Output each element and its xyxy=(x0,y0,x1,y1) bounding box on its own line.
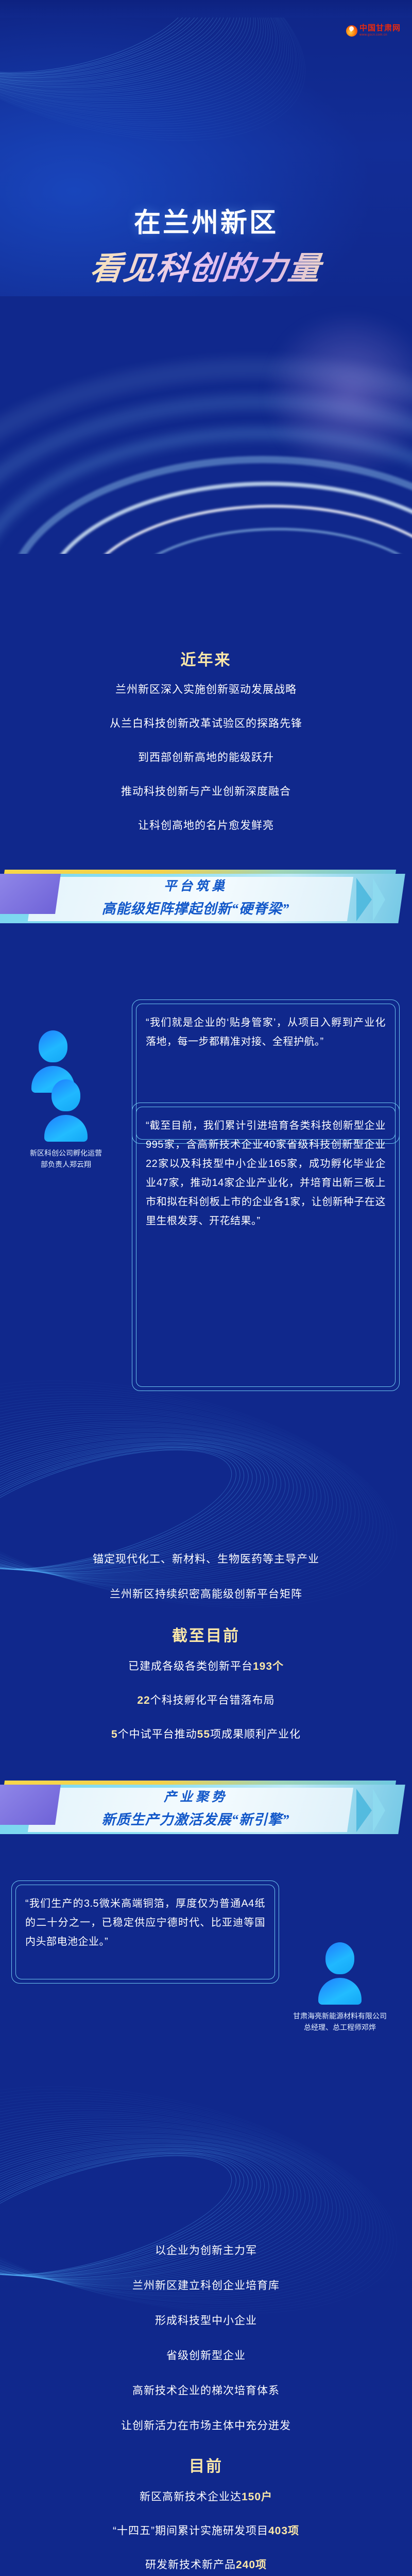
intro-line-2: 到西部创新高地的能级跃升 xyxy=(0,749,412,765)
avatar-head-icon xyxy=(39,1030,67,1062)
stat-suffix: 项 xyxy=(288,2525,299,2537)
stat-suffix: 个科技孵化平台错落布局 xyxy=(150,1694,275,1706)
avatar-caption-2: 新区科创公司孵化运营 部负责人郑云翔 xyxy=(20,1148,112,1170)
avatar-2: 新区科创公司孵化运营 部负责人郑云翔 xyxy=(20,1079,112,1170)
stat-line-2-1: “十四五”期间累计实施研发项目403项 xyxy=(0,2522,412,2538)
stats-heading-2: 目前 xyxy=(0,2453,412,2476)
section-banner-2: 产业聚势 新质生产力激活发展“新引擎” xyxy=(0,1777,412,1838)
stat-suffix: 个 xyxy=(272,1660,284,1672)
intro-text: 到西部创新高地的能级跃升 xyxy=(138,752,274,764)
stat-line-1-1: 22个科技孵化平台错落布局 xyxy=(0,1692,412,1707)
intro-line-3: 推动科技创新与产业创新深度融合 xyxy=(0,783,412,799)
brand-name: 中国甘肃网 xyxy=(359,25,401,32)
stat-prefix: 新区高新技术企业达 xyxy=(140,2491,242,2503)
avatar-head-icon xyxy=(325,1942,354,1974)
stats-lead-text: 高新技术企业的梯次培育体系 xyxy=(132,2385,280,2397)
stat-number: 193 xyxy=(253,1660,272,1672)
intro-line-0: 兰州新区深入实施创新驱动发展战略 xyxy=(0,681,412,697)
brand-url: www.gscn.com.cn xyxy=(359,33,401,37)
stats-lead-text: 以企业为创新主力军 xyxy=(155,2245,257,2257)
stat-suffix: 项 xyxy=(255,2559,267,2571)
stat-line-2-2: 研发新技术新产品240项 xyxy=(0,2556,412,2572)
stat-number: 55 xyxy=(197,1728,210,1740)
stat-suffix: 户 xyxy=(261,2491,272,2503)
intro-line-4: 让科创高地的名片愈发鲜亮 xyxy=(0,817,412,833)
stats-lead-1-0: 锚定现代化工、新材料、生物医药等主导产业 xyxy=(0,1551,412,1566)
stat-suffix: 项成果顺利产业化 xyxy=(210,1728,301,1740)
site-logo-top: 中国甘肃网 www.gscn.com.cn xyxy=(346,25,401,37)
arc-glow-decoration xyxy=(0,296,412,554)
stats-heading-1: 截至目前 xyxy=(0,1623,412,1646)
hero-title-line2: 看见科创的力量 xyxy=(0,242,412,289)
stats-lead-2-5: 让创新活力在市场主体中充分迸发 xyxy=(0,2417,412,2433)
quote-card-2: “截至目前，我们累计引进培育各类科技创新型企业995家，含高新技术企业40家省级… xyxy=(132,1103,400,1391)
flame-icon xyxy=(346,25,357,37)
stats-lead-2-3: 省级创新型企业 xyxy=(0,2347,412,2363)
banner-subtitle: 新质生产力激活发展“新引擎” xyxy=(0,1808,391,1828)
stat-prefix: 已建成各级各类创新平台 xyxy=(128,1660,253,1672)
avatar-3: 甘肃海亮新能源材料有限公司 总经理、总工程师邓烨 xyxy=(288,1942,391,2033)
intro-line-1: 从兰白科技创新改革试验区的探路先锋 xyxy=(0,715,412,731)
infographic-page: 中国甘肃网 www.gscn.com.cn 在兰州新区 看见科创的力量 近年来 … xyxy=(0,0,412,2576)
stat-line-2-0: 新区高新技术企业达150户 xyxy=(0,2488,412,2504)
stat-line-1-2: 5个中试平台推动55项成果顺利产业化 xyxy=(0,1726,412,1741)
stats-lead-2-1: 兰州新区建立科创企业培育库 xyxy=(0,2277,412,2293)
avatar-caption-line: 新区科创公司孵化运营 xyxy=(20,1148,112,1159)
quote-card-3: “我们生产的3.5微米高端铜箔，厚度仅为普通A4纸的二十分之一，已稳定供应宁德时… xyxy=(11,1880,279,1984)
hero-section: 中国甘肃网 www.gscn.com.cn 在兰州新区 看见科创的力量 xyxy=(0,0,412,330)
stat-prefix: “十四五”期间累计实施研发项目 xyxy=(113,2525,268,2537)
stats-lead-text: 锚定现代化工、新材料、生物医药等主导产业 xyxy=(93,1553,319,1565)
intro-heading: 近年来 xyxy=(0,647,412,670)
stats-lead-2-4: 高新技术企业的梯次培育体系 xyxy=(0,2382,412,2398)
stat-number: 240 xyxy=(236,2559,255,2571)
stats-lead-text: 省级创新型企业 xyxy=(166,2350,246,2362)
avatar-caption-line: 甘肃海亮新能源材料有限公司 xyxy=(288,2011,391,2022)
hero-title-line1: 在兰州新区 xyxy=(0,201,412,240)
stats-lead-2-2: 形成科技型中小企业 xyxy=(0,2312,412,2328)
stat-number: 22 xyxy=(137,1694,150,1706)
avatar-caption-line: 部负责人郑云翔 xyxy=(20,1159,112,1171)
avatar-caption-line: 总经理、总工程师邓烨 xyxy=(288,2022,391,2033)
stats-lead-text: 兰州新区持续织密高能级创新平台矩阵 xyxy=(110,1588,302,1600)
intro-text: 推动科技创新与产业创新深度融合 xyxy=(121,786,291,798)
stat-number: 403 xyxy=(268,2525,288,2537)
stat-suffix: 个中试平台推动 xyxy=(118,1728,197,1740)
avatar-body-icon xyxy=(44,1115,88,1142)
stat-line-1-0: 已建成各级各类创新平台193个 xyxy=(0,1658,412,1673)
intro-text: 兰州新区深入实施创新驱动发展战略 xyxy=(115,684,297,696)
top-bar xyxy=(0,0,412,18)
avatar-body-icon xyxy=(318,1978,362,2005)
banner-title: 产业聚势 xyxy=(0,1787,391,1805)
quote-text-3: “我们生产的3.5微米高端铜箔，厚度仅为普通A4纸的二十分之一，已稳定供应宁德时… xyxy=(12,1881,279,1963)
avatar-head-icon xyxy=(51,1079,80,1111)
intro-text: 让科创高地的名片愈发鲜亮 xyxy=(138,820,274,832)
avatar-caption-3: 甘肃海亮新能源材料有限公司 总经理、总工程师邓烨 xyxy=(288,2011,391,2033)
stats-lead-text: 让创新活力在市场主体中充分迸发 xyxy=(121,2420,291,2432)
intro-text: 从兰白科技创新改革试验区的探路先锋 xyxy=(110,718,302,730)
quote-text-2: “截至目前，我们累计引进培育各类科技创新型企业995家，含高新技术企业40家省级… xyxy=(132,1103,399,1242)
stat-prefix: 研发新技术新产品 xyxy=(145,2559,236,2571)
section-banner-1: 平台筑巢 高能级矩阵撑起创新“硬脊梁” xyxy=(0,867,412,927)
quote-text-1: “我们就是企业的‘贴身管家’，从项目入孵到产业化落地，每一步都精准对接、全程护航… xyxy=(132,1000,399,1063)
stats-lead-text: 形成科技型中小企业 xyxy=(155,2315,257,2327)
stat-number: 150 xyxy=(242,2491,261,2503)
stats-lead-text: 兰州新区建立科创企业培育库 xyxy=(132,2280,280,2292)
stats-lead-2-0: 以企业为创新主力军 xyxy=(0,2242,412,2258)
stats-lead-1-1: 兰州新区持续织密高能级创新平台矩阵 xyxy=(0,1586,412,1601)
banner-subtitle: 高能级矩阵撑起创新“硬脊梁” xyxy=(0,897,391,918)
banner-title: 平台筑巢 xyxy=(0,876,391,894)
stat-number: 5 xyxy=(111,1728,118,1740)
mesh-decoration-1 xyxy=(0,1401,412,1618)
